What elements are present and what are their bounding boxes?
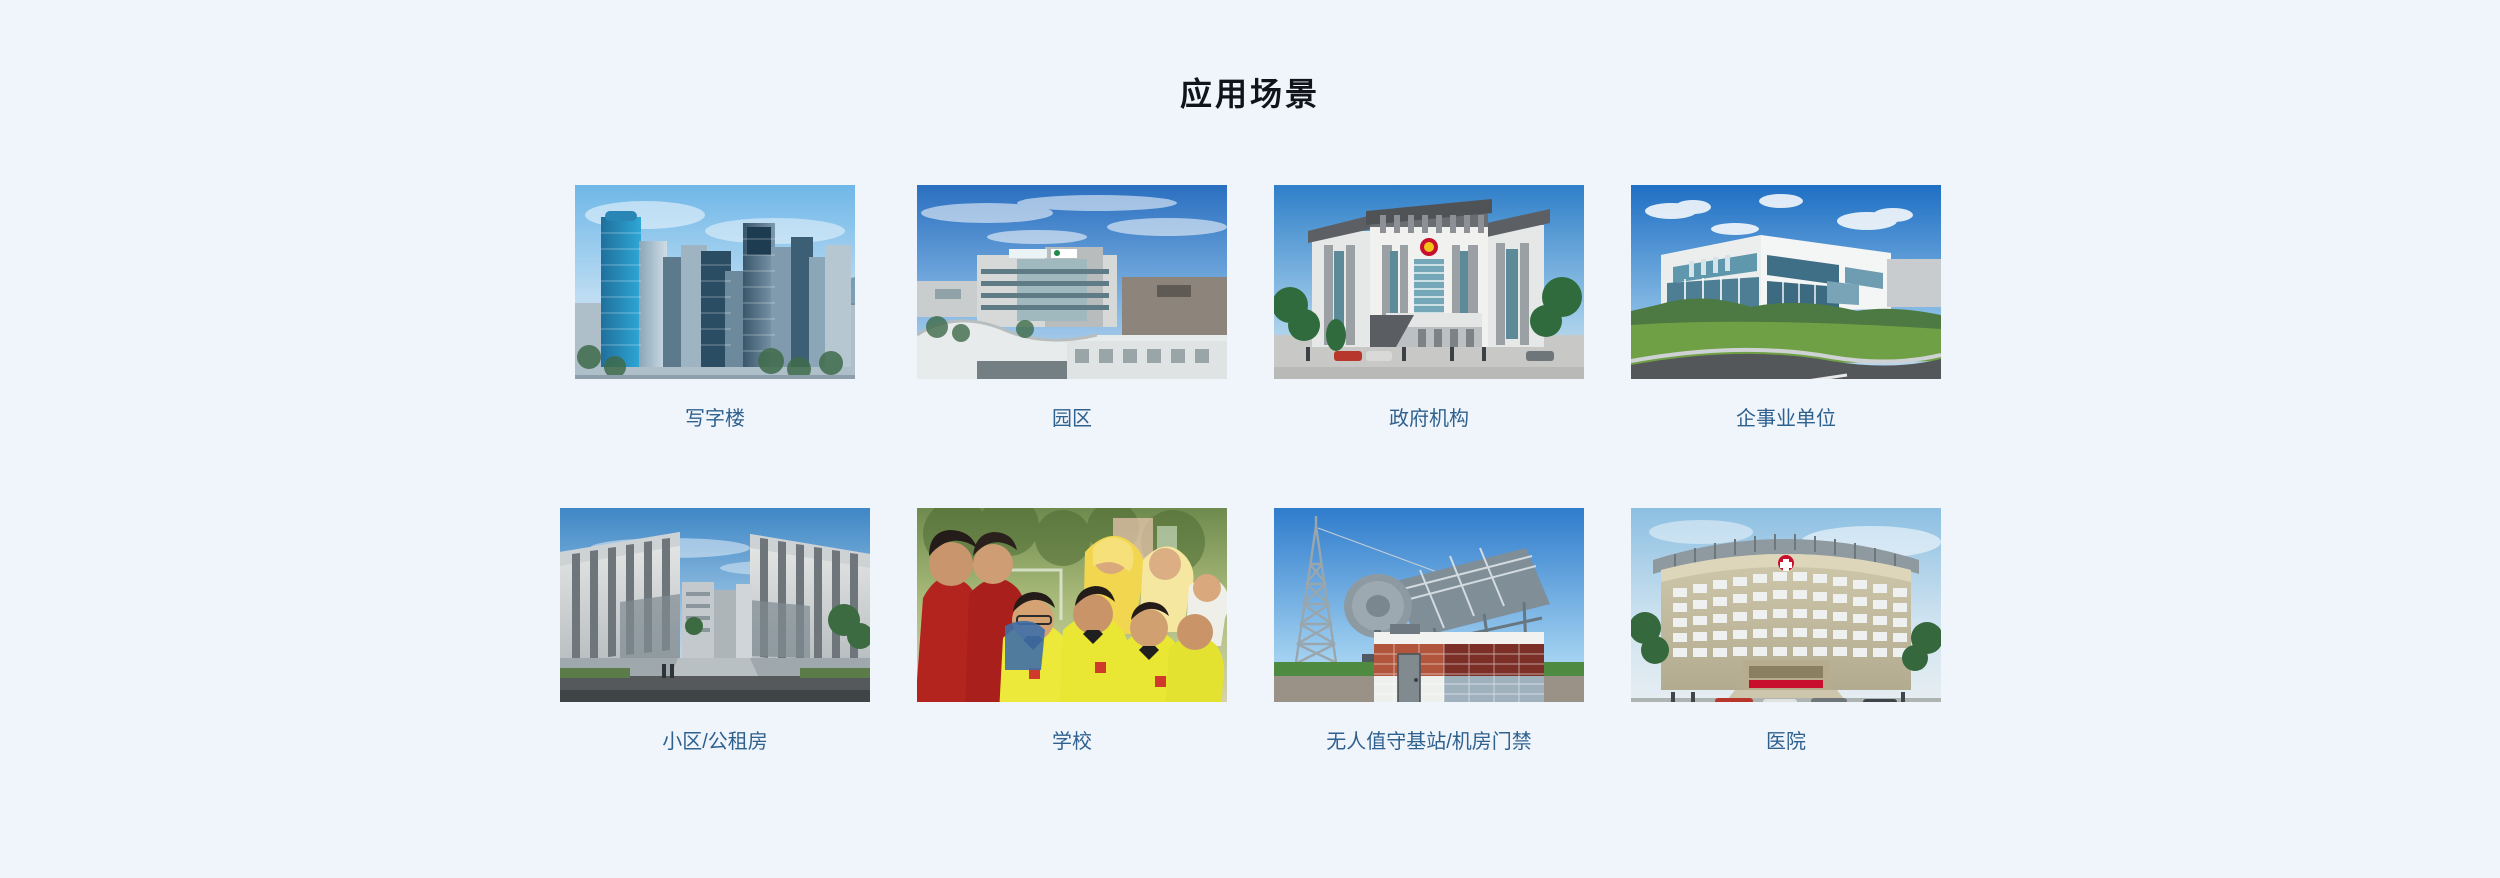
government-building-image[interactable] [1274,185,1584,379]
scenario-card-school[interactable]: 学校 [912,508,1232,754]
scenario-card-government[interactable]: 政府机构 [1269,185,1589,431]
scenario-label: 学校 [1052,730,1092,754]
school-students-image[interactable] [917,508,1227,702]
residential-complex-image[interactable] [560,508,870,702]
scenario-card-residential[interactable]: 小区/公租房 [555,508,875,754]
scenario-card-business-park[interactable]: 园区 [912,185,1232,431]
scenario-grid: 写字楼 [555,185,1945,754]
scenario-card-base-station[interactable]: 无人值守基站/机房门禁 [1269,508,1589,754]
scenario-label: 写字楼 [685,407,745,431]
application-scenarios-section: 应用场景 [0,0,2500,878]
enterprise-building-image[interactable] [1631,185,1941,379]
scenario-label: 小区/公租房 [662,730,768,754]
scenario-label: 企事业单位 [1736,407,1836,431]
scenario-card-enterprise[interactable]: 企事业单位 [1626,185,1946,431]
page-title: 应用场景 [0,78,2500,110]
scenario-label: 无人值守基站/机房门禁 [1326,730,1532,754]
office-tower-image[interactable] [575,185,855,379]
scenario-card-hospital[interactable]: 医院 [1626,508,1946,754]
business-park-image[interactable] [917,185,1227,379]
scenario-label: 政府机构 [1389,407,1469,431]
hospital-building-image[interactable] [1631,508,1941,702]
base-station-image[interactable] [1274,508,1584,702]
scenario-card-office-tower[interactable]: 写字楼 [555,185,875,431]
scenario-label: 园区 [1052,407,1092,431]
scenario-label: 医院 [1766,730,1806,754]
